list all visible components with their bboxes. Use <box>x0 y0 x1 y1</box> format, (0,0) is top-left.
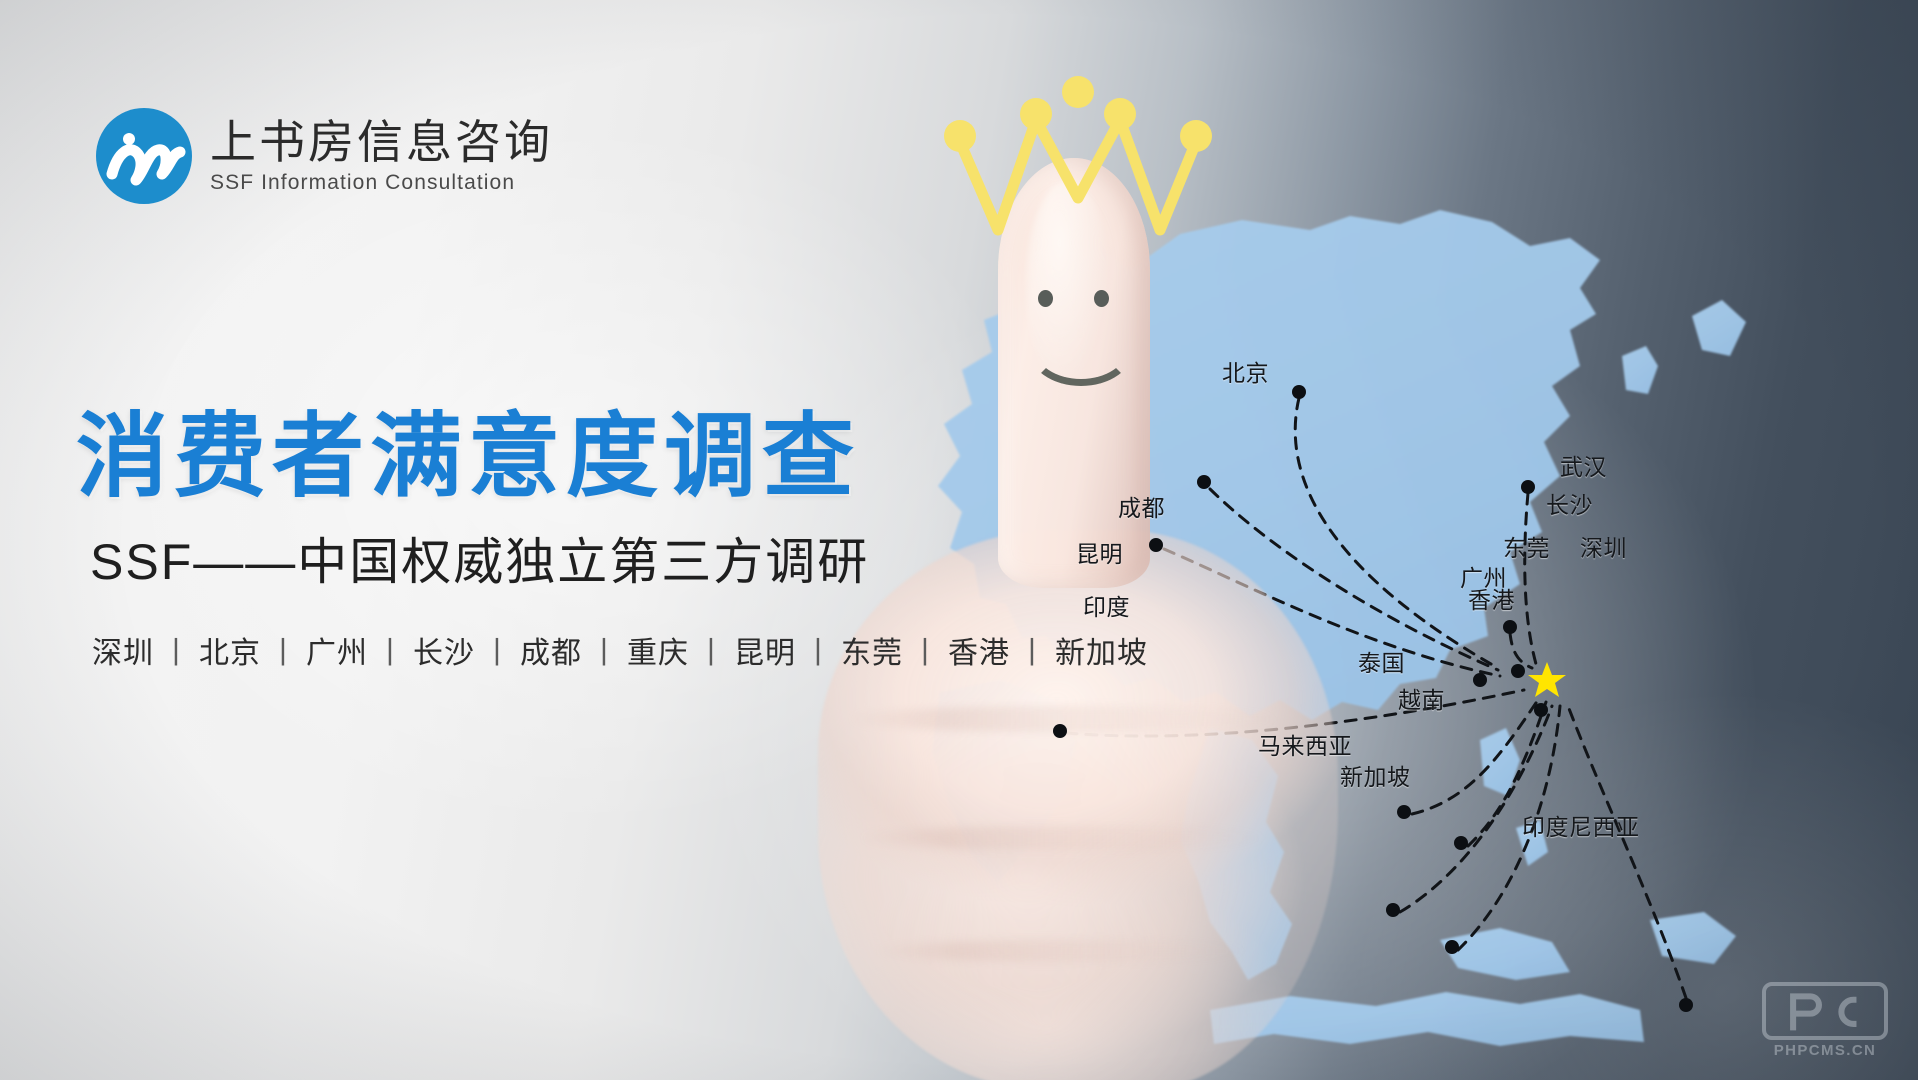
map-label: 泰国 <box>1358 644 1405 678</box>
map-dot-marker <box>1473 673 1487 687</box>
pc-logo-icon <box>1762 982 1888 1040</box>
city-separator: 丨 <box>1017 637 1048 670</box>
map-label: 深圳 <box>1580 529 1627 563</box>
star-marker-icon <box>1527 660 1567 700</box>
city-name: 深圳 <box>92 637 154 670</box>
map-label: 长沙 <box>1546 486 1593 520</box>
watermark-text: PHPCMS.CN <box>1762 1042 1888 1059</box>
city-separator: 丨 <box>268 637 299 670</box>
city-name: 东莞 <box>841 637 903 670</box>
map-dot-marker <box>1511 664 1525 678</box>
map-dot-marker <box>1386 903 1400 917</box>
map-label: 新加坡 <box>1340 758 1411 792</box>
map-label: 印度 <box>1083 588 1130 622</box>
map-label: 香港 <box>1468 581 1515 615</box>
map-dot-marker <box>1445 940 1459 954</box>
city-name: 北京 <box>199 637 261 670</box>
page-title: 消费者满意度调查 <box>76 382 860 515</box>
brand-name-en: SSF Information Consultation <box>210 171 553 195</box>
city-separator: 丨 <box>375 637 406 670</box>
map-dot-marker <box>1292 385 1306 399</box>
map-dot-marker <box>1534 703 1548 717</box>
map-dot-marker <box>1521 480 1535 494</box>
brand-name-cn: 上书房信息咨询 <box>210 117 553 168</box>
city-separator: 丨 <box>482 637 513 670</box>
poster-canvas: 北京武汉长沙成都昆明东莞深圳广州香港印度泰国越南马来西亚新加坡印度尼西亚 上书房… <box>0 0 1918 1080</box>
map-dot-marker <box>1397 805 1411 819</box>
map-label: 武汉 <box>1560 448 1607 482</box>
city-separator: 丨 <box>696 637 727 670</box>
map-dot-marker <box>1053 724 1067 738</box>
map-label: 印度尼西亚 <box>1522 808 1640 842</box>
city-name: 重庆 <box>627 637 689 670</box>
ssf-wave-logo-icon <box>96 108 192 204</box>
map-label: 马来西亚 <box>1258 727 1352 761</box>
city-separator: 丨 <box>910 637 941 670</box>
map-dot-marker <box>1503 620 1517 634</box>
map-dot-marker <box>1197 475 1211 489</box>
city-name: 香港 <box>948 637 1010 670</box>
map-dot-marker <box>1679 998 1693 1012</box>
map-label: 北京 <box>1222 354 1269 388</box>
page-subtitle: SSF——中国权威独立第三方调研 <box>90 522 869 594</box>
map-label: 昆明 <box>1076 535 1123 569</box>
city-list: 深圳丨北京丨广州丨长沙丨成都丨重庆丨昆明丨东莞丨香港丨新加坡 <box>92 628 1148 672</box>
city-name: 广州 <box>306 637 368 670</box>
city-name: 成都 <box>520 637 582 670</box>
map-label: 成都 <box>1118 489 1165 523</box>
city-name: 长沙 <box>413 637 475 670</box>
city-name: 新加坡 <box>1055 637 1148 670</box>
city-name: 昆明 <box>734 637 796 670</box>
city-separator: 丨 <box>803 637 834 670</box>
map-dot-marker <box>1149 538 1163 552</box>
brand-lockup: 上书房信息咨询 SSF Information Consultation <box>96 108 553 204</box>
city-separator: 丨 <box>589 637 620 670</box>
city-separator: 丨 <box>161 637 192 670</box>
phpcms-watermark: PHPCMS.CN <box>1762 982 1888 1058</box>
map-dot-marker <box>1454 836 1468 850</box>
map-label: 越南 <box>1398 681 1445 715</box>
map-label: 东莞 <box>1503 529 1550 563</box>
